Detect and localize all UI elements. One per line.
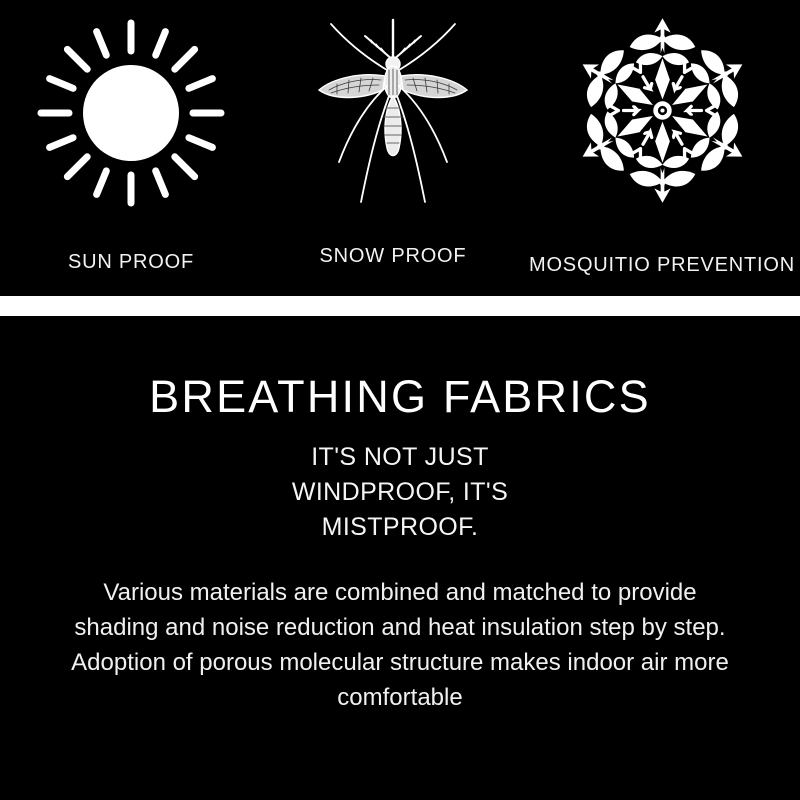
feature-label-mosquito-prevention: MOSQUITIO PREVENTION	[529, 254, 795, 277]
mosquito-icon	[303, 12, 483, 217]
feature-item-sun-proof: SUN PROOF	[0, 0, 262, 274]
feature-label-snow-proof: SNOW PROOF	[320, 245, 467, 268]
headline: BREATHING FABRICS	[0, 374, 800, 419]
sun-icon	[36, 18, 226, 213]
snowflake-icon	[560, 8, 765, 218]
copy-section: BREATHING FABRICS IT'S NOT JUST WINDPROO…	[0, 316, 800, 800]
subheadline-line-1: IT'S NOT JUST	[0, 440, 800, 475]
body-paragraph: Various materials are combined and match…	[70, 575, 730, 715]
feature-item-mosquito-prevention: MOSQUITIO PREVENTION	[524, 0, 800, 277]
subheadline-line-2: WINDPROOF, IT'S	[0, 475, 800, 510]
feature-strip: SUN PROOF	[0, 0, 800, 296]
feature-label-sun-proof: SUN PROOF	[68, 251, 194, 274]
feature-item-snow-proof: SNOW PROOF	[262, 0, 524, 268]
subheadline-line-3: MISTPROOF.	[0, 510, 800, 545]
section-divider	[0, 296, 800, 316]
subheadline: IT'S NOT JUST WINDPROOF, IT'S MISTPROOF.	[0, 440, 800, 545]
product-feature-banner: SUN PROOF	[0, 0, 800, 800]
